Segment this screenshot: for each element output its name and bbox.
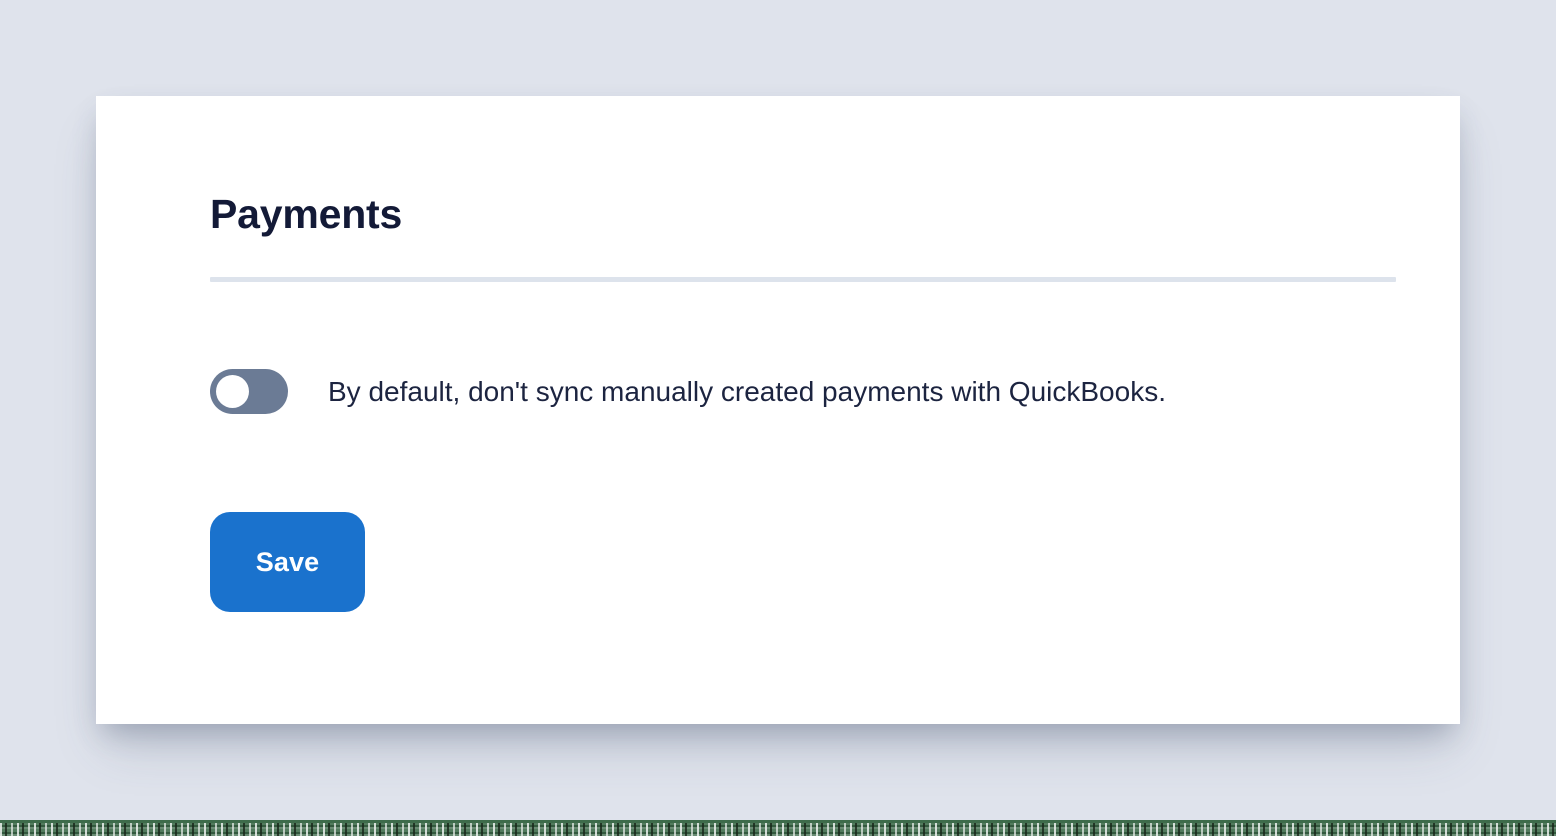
bottom-noise-strip bbox=[0, 820, 1556, 836]
save-button[interactable]: Save bbox=[210, 512, 365, 612]
payments-settings-card: Payments By default, don't sync manually… bbox=[96, 96, 1460, 724]
title-divider bbox=[210, 277, 1396, 282]
page-title: Payments bbox=[210, 192, 402, 237]
sync-payments-toggle[interactable] bbox=[210, 369, 288, 414]
noise-texture bbox=[0, 823, 1556, 836]
page-background: Payments By default, don't sync manually… bbox=[0, 0, 1556, 836]
sync-payments-setting-row: By default, don't sync manually created … bbox=[210, 369, 1166, 414]
toggle-knob-icon bbox=[216, 375, 249, 408]
sync-payments-toggle-label: By default, don't sync manually created … bbox=[328, 374, 1166, 409]
